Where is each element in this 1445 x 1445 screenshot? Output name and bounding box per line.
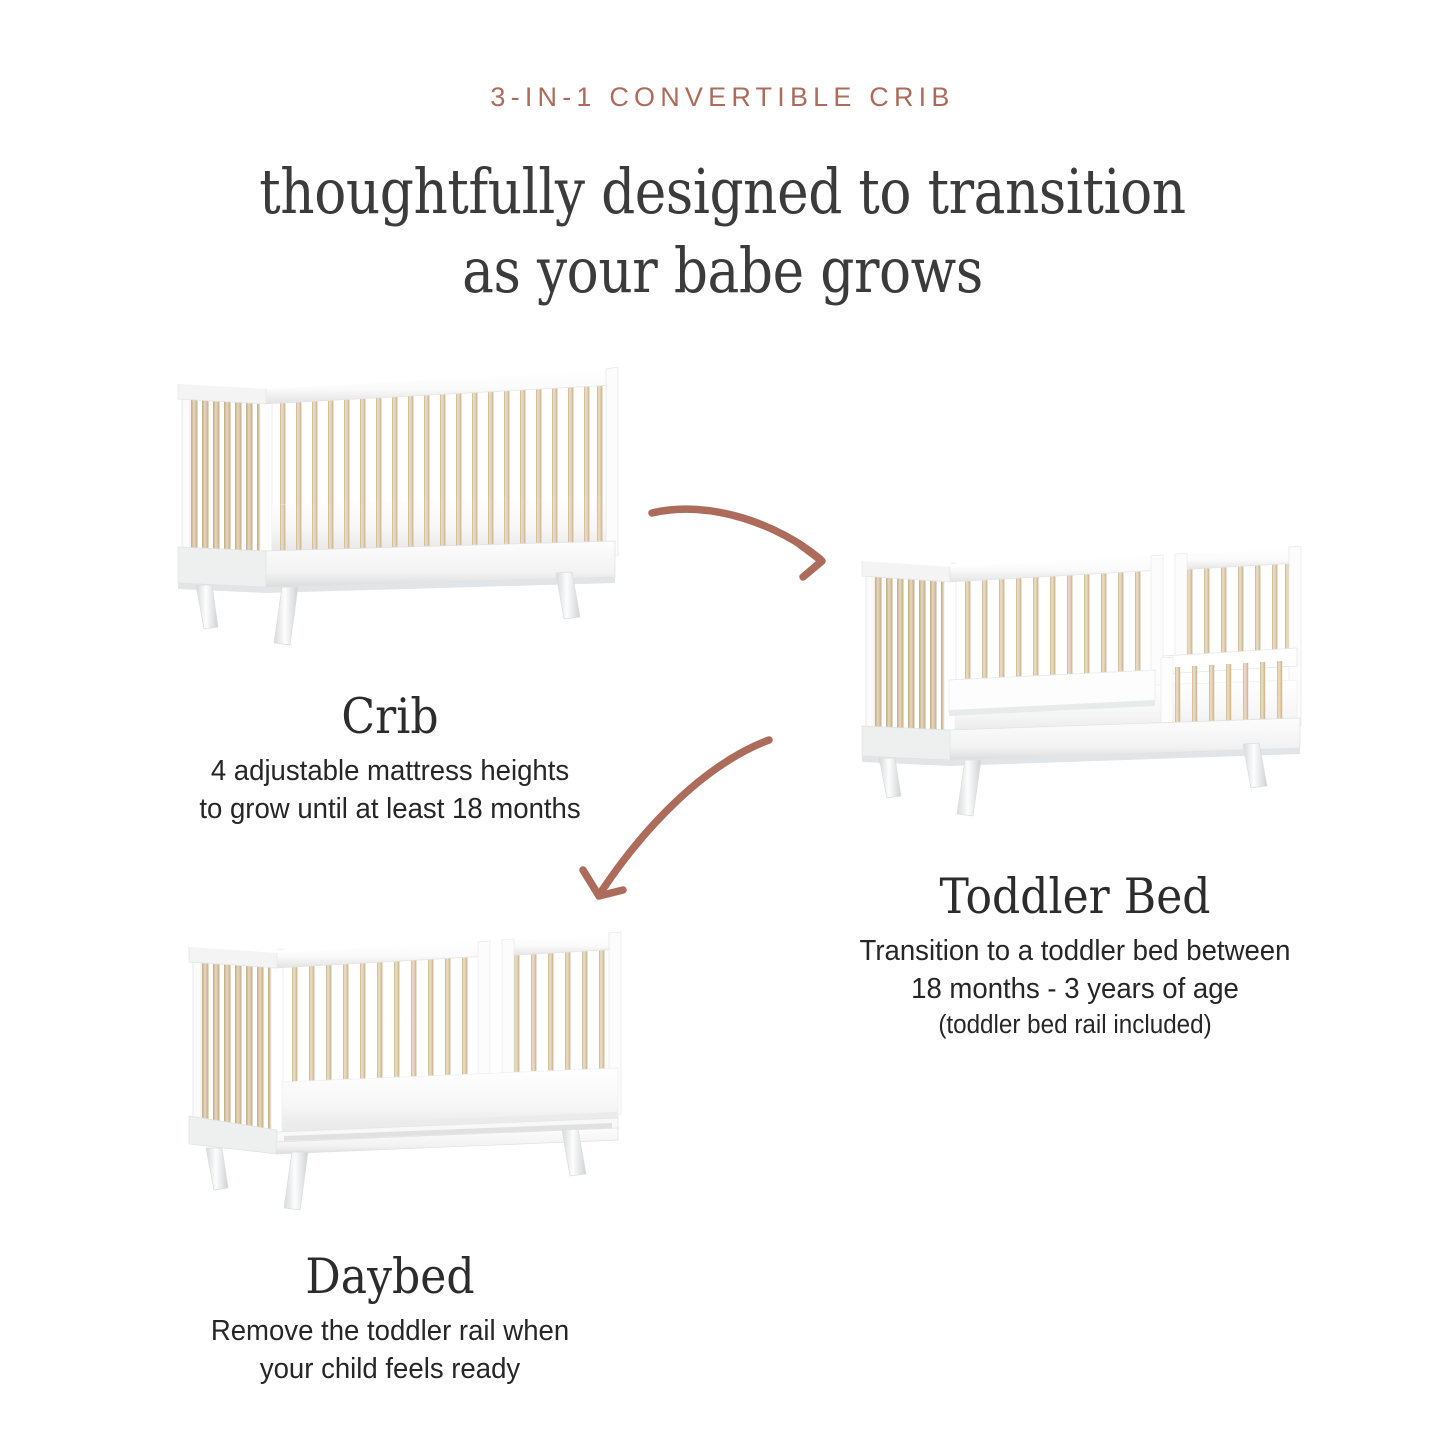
toddler-caption-line-1: Transition to a toddler bed between [833, 932, 1318, 970]
daybed-caption: Remove the toddler rail when your child … [167, 1312, 614, 1389]
crib-caption-line-1: 4 adjustable mattress heights [162, 752, 618, 790]
toddler-bed-product-image [845, 530, 1315, 830]
headline-line-1: thoughtfully designed to transition [101, 152, 1344, 231]
daybed-back-slats [292, 945, 467, 1086]
crib-left-panel-slats [191, 394, 264, 570]
toddler-bed-caption: Transition to a toddler bed between 18 m… [833, 932, 1318, 1042]
crib-caption-line-2: to grow until at least 18 months [162, 790, 618, 828]
crib-caption: 4 adjustable mattress heights to grow un… [162, 752, 618, 829]
eyebrow-label: 3-IN-1 CONVERTIBLE CRIB [0, 82, 1445, 113]
daybed-product-image [172, 918, 632, 1218]
toddler-caption-line-2: 18 months - 3 years of age [833, 970, 1318, 1008]
crib-product-image [160, 355, 630, 655]
daybed-title: Daybed [179, 1248, 602, 1305]
daybed-caption-line-1: Remove the toddler rail when [167, 1312, 614, 1350]
toddler-left-panel-slats [875, 573, 948, 746]
toddler-bed-title: Toddler Bed [864, 868, 1287, 925]
arrow-toddler-to-daybed [555, 730, 785, 920]
daybed-right-panel-slats [514, 939, 604, 1072]
daybed-caption-line-2: your child feels ready [167, 1350, 614, 1388]
arrow-crib-to-toddler [630, 485, 850, 585]
toddler-caption-note: (toddler bed rail included) [833, 1009, 1318, 1043]
page-title: thoughtfully designed to transition as y… [101, 152, 1344, 311]
crib-title: Crib [179, 688, 602, 745]
crib-top-rail [264, 369, 615, 404]
headline-line-2: as your babe grows [101, 231, 1344, 310]
daybed-left-panel-slats [202, 959, 275, 1129]
